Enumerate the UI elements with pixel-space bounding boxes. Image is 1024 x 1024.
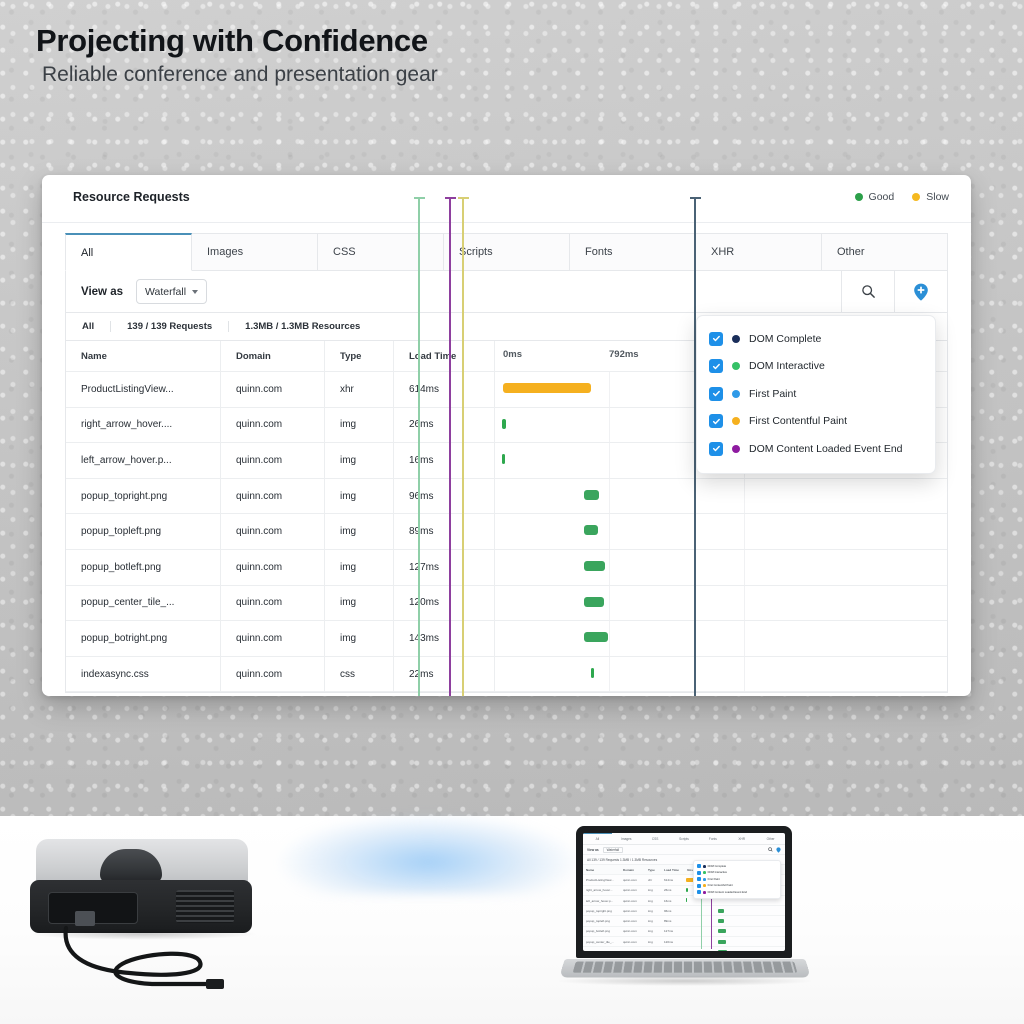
waterfall-gridline xyxy=(609,372,610,407)
mini-waterfall-bar xyxy=(718,950,727,951)
cell-domain: quinn.com xyxy=(221,656,325,692)
metric-color-dot xyxy=(732,417,740,425)
cell-type: img xyxy=(325,549,394,585)
mini-cell: quinn.com xyxy=(620,909,645,913)
laptop-keyboard xyxy=(573,962,798,973)
cell-type: img xyxy=(325,478,394,514)
mini-cell: 143ms xyxy=(661,950,684,951)
mini-tab[interactable]: All xyxy=(583,833,612,844)
tab-label: Other xyxy=(837,246,865,258)
mini-cell: quinn.com xyxy=(620,888,645,892)
mini-metric-label: First Paint xyxy=(708,878,720,881)
cell-name: popup_botright.png xyxy=(66,621,221,657)
waterfall-bar[interactable] xyxy=(503,383,591,393)
mini-metric-dot xyxy=(703,891,706,894)
mini-cell: right_arrow_hover... xyxy=(583,888,620,892)
add-marker-pin-icon xyxy=(913,283,929,301)
mini-table-row: popup_topright.pngquinn.comimg96ms xyxy=(583,906,785,916)
resource-type-tabs: All Images CSS Scripts Fonts XHR Other xyxy=(65,233,948,271)
timeline-tick-792: 792ms xyxy=(609,349,639,360)
laptop-lid: AllImagesCSSScriptsFontsXHROther View as… xyxy=(576,826,792,958)
chevron-down-icon xyxy=(192,290,198,294)
table-row[interactable]: popup_topright.pngquinn.comimg96ms xyxy=(66,478,947,514)
summary-requests: 139 / 139 Requests xyxy=(111,321,228,332)
mini-waterfall-cell xyxy=(684,927,785,936)
metric-label: DOM Content Loaded Event End xyxy=(749,443,903,455)
search-button[interactable] xyxy=(841,271,894,312)
mini-cell: popup_topright.png xyxy=(583,909,620,913)
cell-load-time: 16ms xyxy=(394,443,495,479)
mini-metric-label: DOM Interactive xyxy=(708,871,727,874)
checkbox-checked-icon[interactable] xyxy=(709,332,723,346)
mini-tab[interactable]: Other xyxy=(756,833,785,844)
metric-label: First Contentful Paint xyxy=(749,415,847,427)
mini-cell: popup_botright.png xyxy=(583,950,620,951)
good-status-dot xyxy=(855,193,863,201)
mini-cell: 89ms xyxy=(661,919,684,923)
panel-title: Resource Requests xyxy=(73,190,190,204)
cell-name: right_arrow_hover.... xyxy=(66,407,221,443)
cell-load-time: 26ms xyxy=(394,407,495,443)
waterfall-gridline xyxy=(609,621,610,656)
waterfall-bar[interactable] xyxy=(584,525,598,535)
mini-cell: 614ms xyxy=(661,878,684,882)
mini-cell: quinn.com xyxy=(620,950,645,951)
cell-name: indexasync.css xyxy=(66,656,221,692)
mini-tab[interactable]: Scripts xyxy=(670,833,699,844)
mini-table-row: popup_botleft.pngquinn.comimg127ms xyxy=(583,927,785,937)
tab-label: All xyxy=(81,247,93,259)
mini-checkbox-icon xyxy=(697,871,701,875)
mini-tab[interactable]: XHR xyxy=(727,833,756,844)
metric-color-dot xyxy=(732,445,740,453)
waterfall-bar[interactable] xyxy=(584,561,605,571)
performance-legend: Good Slow xyxy=(855,191,949,203)
page-title: Projecting with Confidence xyxy=(36,24,736,58)
cell-domain: quinn.com xyxy=(221,621,325,657)
mini-cell: img xyxy=(645,950,661,951)
column-header-type[interactable]: Type xyxy=(325,341,394,372)
metric-color-dot xyxy=(732,335,740,343)
checkbox-checked-icon[interactable] xyxy=(709,442,723,456)
cell-type: xhr xyxy=(325,372,394,408)
metric-color-dot xyxy=(732,362,740,370)
mini-waterfall-bar xyxy=(718,909,724,913)
cell-domain: quinn.com xyxy=(221,372,325,408)
cell-domain: quinn.com xyxy=(221,549,325,585)
timeline-tick-0: 0ms xyxy=(503,349,522,360)
mini-table-row: popup_topleft.pngquinn.comimg89ms xyxy=(583,916,785,926)
waterfall-gridline xyxy=(609,550,610,585)
mini-tab[interactable]: Fonts xyxy=(698,833,727,844)
tab-label: CSS xyxy=(333,246,356,258)
mini-table-row: popup_botright.pngquinn.comimg143ms xyxy=(583,947,785,951)
mini-cell: img xyxy=(645,888,661,892)
checkbox-checked-icon[interactable] xyxy=(709,414,723,428)
summary-scope: All xyxy=(66,321,110,332)
view-as-dropdown[interactable]: Waterfall xyxy=(136,279,207,304)
cell-name: ProductListingView... xyxy=(66,372,221,408)
view-as-value: Waterfall xyxy=(145,286,186,298)
mini-waterfall-cell xyxy=(684,947,785,951)
cell-domain: quinn.com xyxy=(221,585,325,621)
view-as-label: View as xyxy=(81,286,123,298)
mini-view-as-label: View as xyxy=(587,848,599,852)
metric-filter-item[interactable]: First Contentful Paint xyxy=(697,408,935,436)
cell-load-time: 22ms xyxy=(394,656,495,692)
tab-all[interactable]: All xyxy=(65,233,192,271)
mini-waterfall-cell xyxy=(684,937,785,946)
waterfall-gridline xyxy=(744,586,745,621)
waterfall-gridline xyxy=(609,514,610,549)
connection-cable xyxy=(0,816,1024,1024)
view-toolbar: View as Waterfall xyxy=(65,271,948,313)
cell-domain: quinn.com xyxy=(221,407,325,443)
mini-cell: 127ms xyxy=(661,929,684,933)
tab-label: Scripts xyxy=(459,246,493,258)
tab-other[interactable]: Other xyxy=(822,233,948,271)
metric-label: First Paint xyxy=(749,388,796,400)
waterfall-bar[interactable] xyxy=(502,419,506,429)
mini-toolbar: View as Waterfall xyxy=(583,845,785,855)
mini-cell: img xyxy=(645,919,661,923)
mini-cell: img xyxy=(645,909,661,913)
waterfall-gridline xyxy=(744,657,745,692)
cell-type: img xyxy=(325,585,394,621)
mini-cell: img xyxy=(645,899,661,903)
mini-waterfall-cell xyxy=(684,916,785,925)
waterfall-gridline xyxy=(609,408,610,443)
add-marker-button[interactable] xyxy=(894,271,947,312)
tab-images[interactable]: Images xyxy=(192,233,318,271)
mini-waterfall-bar xyxy=(718,929,726,933)
cell-domain: quinn.com xyxy=(221,443,325,479)
legend-item-slow: Slow xyxy=(912,191,949,203)
mini-metric-dot xyxy=(703,884,706,887)
mini-cell: left_arrow_hover.p... xyxy=(583,899,620,903)
mini-column-header: Domain xyxy=(620,868,645,872)
cable-connector xyxy=(206,979,224,989)
mini-tabs: AllImagesCSSScriptsFontsXHROther xyxy=(583,833,785,845)
panel-header: Resource Requests Good Slow xyxy=(42,175,971,223)
tab-label: Fonts xyxy=(585,246,613,258)
mini-cell: 96ms xyxy=(661,909,684,913)
column-header-name[interactable]: Name xyxy=(66,341,221,372)
mini-search-icon xyxy=(768,847,773,852)
cell-type: img xyxy=(325,407,394,443)
mini-cell: quinn.com xyxy=(620,919,645,923)
mini-add-marker-pin-icon xyxy=(776,847,781,853)
summary-resources: 1.3MB / 1.3MB Resources xyxy=(229,321,376,332)
waterfall-gridline xyxy=(744,514,745,549)
waterfall-bar[interactable] xyxy=(584,490,599,500)
mini-column-header: Name xyxy=(583,868,620,872)
waterfall-gridline xyxy=(744,621,745,656)
waterfall-gridline xyxy=(609,443,610,478)
mini-cell: 16ms xyxy=(661,899,684,903)
cell-waterfall xyxy=(495,478,948,514)
cell-name: popup_topright.png xyxy=(66,478,221,514)
waterfall-bar[interactable] xyxy=(584,632,608,642)
slow-status-dot xyxy=(912,193,920,201)
metric-label: DOM Interactive xyxy=(749,360,825,372)
mini-cell: quinn.com xyxy=(620,899,645,903)
mini-cell: popup_center_tile_... xyxy=(583,940,620,944)
table-row[interactable]: popup_topleft.pngquinn.comimg89ms xyxy=(66,514,947,550)
cell-name: popup_topleft.png xyxy=(66,514,221,550)
mini-column-header: Type xyxy=(645,868,661,872)
cell-load-time: 614ms xyxy=(394,372,495,408)
metric-filter-item[interactable]: First Paint xyxy=(697,380,935,408)
cell-load-time: 127ms xyxy=(394,549,495,585)
mini-cell: ProductListingView... xyxy=(583,878,620,882)
mini-checkbox-icon xyxy=(697,877,701,881)
cell-waterfall xyxy=(495,514,948,550)
legend-item-good: Good xyxy=(855,191,895,203)
mini-cell: img xyxy=(645,929,661,933)
table-row[interactable]: popup_botright.pngquinn.comimg143ms xyxy=(66,621,947,657)
mini-metrics-dropdown: DOM CompleteDOM InteractiveFirst PaintFi… xyxy=(693,860,781,899)
table-row[interactable]: popup_botleft.pngquinn.comimg127ms xyxy=(66,549,947,585)
mini-metric-item: DOM Content Loaded Event End xyxy=(694,889,780,896)
mini-checkbox-icon xyxy=(697,864,701,868)
metric-filter-item[interactable]: DOM Content Loaded Event End xyxy=(697,435,935,463)
page-subtitle: Reliable conference and presentation gea… xyxy=(42,62,736,87)
cell-name: popup_center_tile_... xyxy=(66,585,221,621)
mini-cell: quinn.com xyxy=(620,929,645,933)
cell-type: img xyxy=(325,621,394,657)
search-icon xyxy=(861,284,876,299)
tab-css[interactable]: CSS xyxy=(318,233,444,271)
cell-waterfall xyxy=(495,656,948,692)
mini-waterfall-bar xyxy=(686,898,687,902)
mini-checkbox-icon xyxy=(697,884,701,888)
column-header-domain[interactable]: Domain xyxy=(221,341,325,372)
mini-waterfall-bar xyxy=(718,919,724,923)
mini-checkbox-icon xyxy=(697,890,701,894)
mini-cell: 120ms xyxy=(661,940,684,944)
metric-filter-item[interactable]: DOM Interactive xyxy=(697,353,935,381)
mini-summary-text: All 139 / 139 Requests 1.3MB / 1.3MB Res… xyxy=(587,858,657,862)
mini-table-row: popup_center_tile_...quinn.comimg120ms xyxy=(583,937,785,947)
mini-cell: quinn.com xyxy=(620,940,645,944)
waterfall-gridline xyxy=(744,550,745,585)
cell-domain: quinn.com xyxy=(221,514,325,550)
mini-metric-label: DOM Complete xyxy=(708,865,727,868)
column-header-load-time[interactable]: Load Time xyxy=(394,341,495,372)
metric-color-dot xyxy=(732,390,740,398)
mini-metric-dot xyxy=(703,871,706,874)
cell-waterfall xyxy=(495,621,948,657)
mini-cell: popup_botleft.png xyxy=(583,929,620,933)
table-row[interactable]: indexasync.cssquinn.comcss22ms xyxy=(66,656,947,692)
checkbox-checked-icon[interactable] xyxy=(709,359,723,373)
cell-load-time: 89ms xyxy=(394,514,495,550)
legend-label-slow: Slow xyxy=(926,191,949,203)
waterfall-bar[interactable] xyxy=(591,668,594,678)
mini-cell: 26ms xyxy=(661,888,684,892)
metrics-filter-dropdown: DOM CompleteDOM InteractiveFirst PaintFi… xyxy=(696,315,936,474)
device-scene: AllImagesCSSScriptsFontsXHROther View as… xyxy=(0,816,1024,1024)
checkbox-checked-icon[interactable] xyxy=(709,387,723,401)
laptop-screen: AllImagesCSSScriptsFontsXHROther View as… xyxy=(583,833,785,951)
cell-type: img xyxy=(325,443,394,479)
tab-label: Images xyxy=(207,246,243,258)
laptop-shadow xyxy=(556,976,814,986)
mini-cell: img xyxy=(645,940,661,944)
cell-waterfall xyxy=(495,585,948,621)
tab-fonts[interactable]: Fonts xyxy=(570,233,696,271)
mini-cell: quinn.com xyxy=(620,878,645,882)
metric-label: DOM Complete xyxy=(749,333,821,345)
tab-scripts[interactable]: Scripts xyxy=(444,233,570,271)
cell-load-time: 143ms xyxy=(394,621,495,657)
mini-cell: xhr xyxy=(645,878,661,882)
cell-type: css xyxy=(325,656,394,692)
cell-load-time: 120ms xyxy=(394,585,495,621)
mini-cell: popup_topleft.png xyxy=(583,919,620,923)
waterfall-bar[interactable] xyxy=(584,597,604,607)
cell-load-time: 96ms xyxy=(394,478,495,514)
laptop-base xyxy=(559,959,811,978)
mini-waterfall-bar xyxy=(718,940,726,944)
mini-metric-label: DOM Content Loaded Event End xyxy=(708,891,747,894)
mini-tab[interactable]: CSS xyxy=(641,833,670,844)
mini-column-header: Load Time xyxy=(661,868,684,872)
mini-metric-dot xyxy=(703,865,706,868)
cell-domain: quinn.com xyxy=(221,478,325,514)
mini-waterfall-cell xyxy=(684,906,785,915)
legend-label-good: Good xyxy=(869,191,895,203)
waterfall-gridline xyxy=(609,586,610,621)
mini-metric-label: First Contentful Paint xyxy=(708,884,733,887)
cell-name: left_arrow_hover.p... xyxy=(66,443,221,479)
waterfall-bar[interactable] xyxy=(502,454,505,464)
metric-filter-item[interactable]: DOM Complete xyxy=(697,325,935,353)
mini-metric-dot xyxy=(703,878,706,881)
waterfall-gridline xyxy=(744,479,745,514)
toolbar-icon-group xyxy=(841,271,947,312)
headline-block: Projecting with Confidence Reliable conf… xyxy=(36,24,736,87)
table-row[interactable]: popup_center_tile_...quinn.comimg120ms xyxy=(66,585,947,621)
cell-name: popup_botleft.png xyxy=(66,549,221,585)
waterfall-gridline xyxy=(609,479,610,514)
mini-waterfall-bar xyxy=(686,888,688,892)
waterfall-gridline xyxy=(609,657,610,692)
cell-type: img xyxy=(325,514,394,550)
tab-label: XHR xyxy=(711,246,734,258)
mini-tab[interactable]: Images xyxy=(612,833,641,844)
tab-xhr[interactable]: XHR xyxy=(696,233,822,271)
mini-view-as-value: Waterfall xyxy=(603,847,623,853)
cell-waterfall xyxy=(495,549,948,585)
